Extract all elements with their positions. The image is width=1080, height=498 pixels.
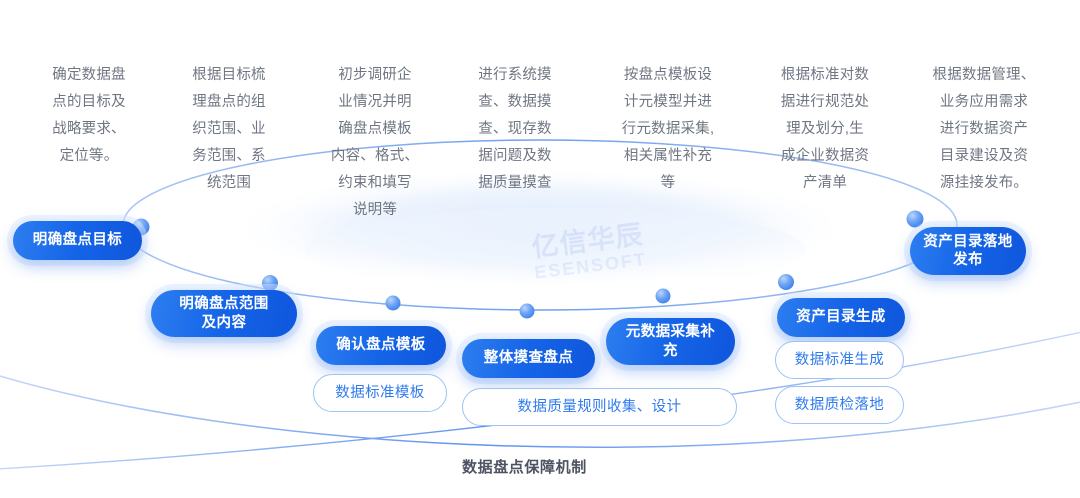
node-dot-7: [907, 211, 924, 228]
description-5: 按盘点模板设 计元模型并进 行元数据采集, 相关属性补充 等: [600, 62, 736, 197]
bottom-caption: 数据盘点保障机制: [462, 456, 587, 477]
watermark: 亿信华辰 ESENSOFT: [472, 214, 706, 292]
description-4: 进行系统摸 查、数据摸 查、现存数 据问题及数 据质量摸查: [455, 62, 575, 197]
diagram-canvas: 亿信华辰 ESENSOFT 确定数据盘 点的目标及 战略要求、 定位等。 根据目…: [0, 0, 1080, 498]
description-3: 初步调研企 业情况并明 确盘点模板 内容、格式、 约束和填写 说明等: [311, 62, 439, 224]
description-2: 根据目标梳 理盘点的组 织范围、业 务范围、系 统范围: [168, 62, 290, 197]
step-pill-2[interactable]: 明确盘点范围 及内容: [151, 290, 297, 337]
step-pill-7[interactable]: 资产目录落地 发布: [910, 227, 1026, 275]
node-dot-5: [656, 289, 671, 304]
node-dot-6: [778, 274, 794, 290]
sub-pill-1[interactable]: 数据标准模板: [313, 374, 447, 412]
step-pill-5[interactable]: 元数据采集补 充: [606, 318, 735, 365]
sub-pill-3[interactable]: 数据标准生成: [775, 341, 904, 379]
description-1: 确定数据盘 点的目标及 战略要求、 定位等。: [28, 62, 150, 170]
sub-pill-4[interactable]: 数据质检落地: [775, 386, 904, 424]
node-dot-2: [262, 275, 278, 291]
step-pill-4[interactable]: 整体摸查盘点: [462, 339, 595, 378]
node-dot-4: [520, 304, 535, 319]
step-pill-6[interactable]: 资产目录生成: [777, 298, 905, 337]
step-pill-1[interactable]: 明确盘点目标: [13, 221, 142, 260]
sub-pill-2[interactable]: 数据质量规则收集、设计: [462, 388, 737, 426]
node-dot-3: [386, 296, 401, 311]
description-7: 根据数据管理、 业务应用需求 进行数据资产 目录建设及资 源挂接发布。: [913, 62, 1055, 197]
step-pill-3[interactable]: 确认盘点模板: [316, 326, 446, 365]
description-6: 根据标准对数 据进行规范处 理及划分,生 成企业数据资 产清单: [757, 62, 893, 197]
